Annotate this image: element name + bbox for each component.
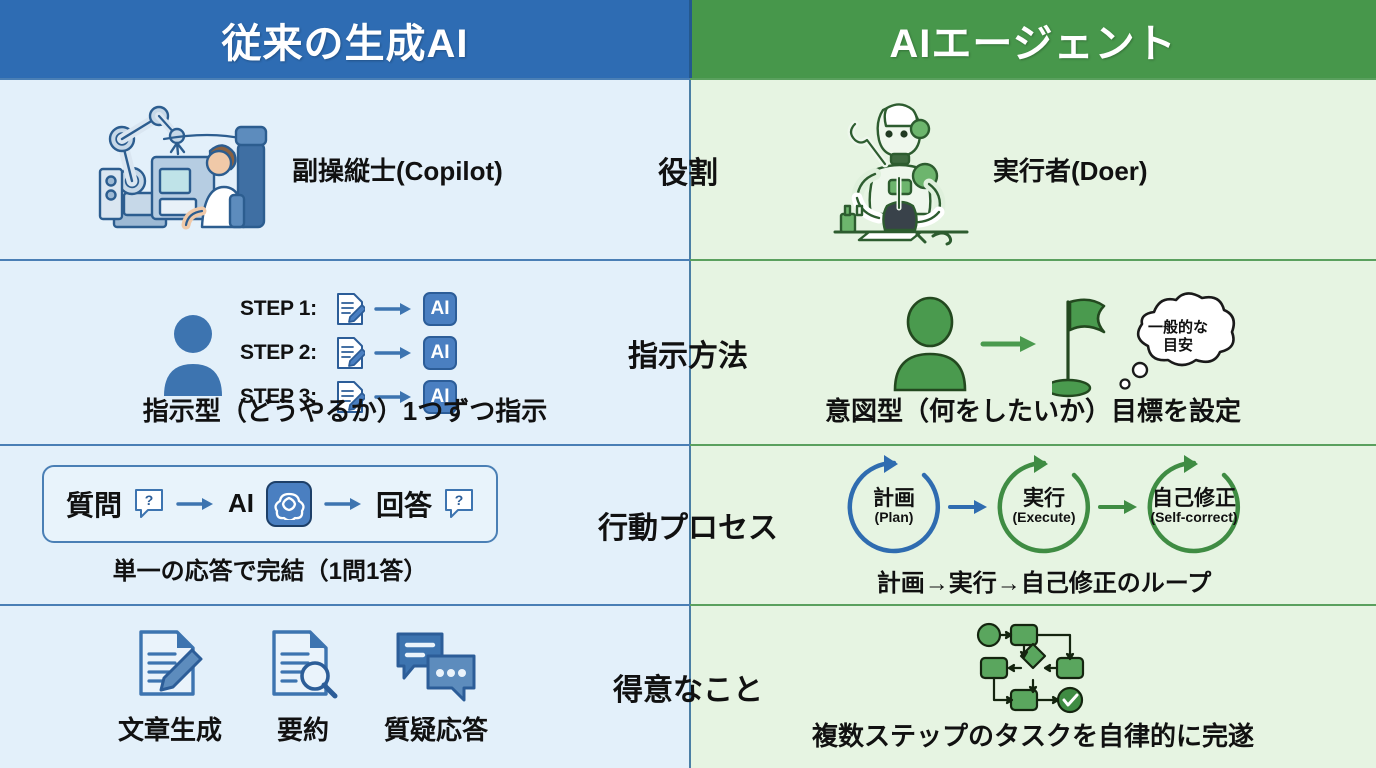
- qa-question-label: 質問: [66, 484, 122, 524]
- row-role-left-cell: 副操縦士(Copilot): [0, 80, 690, 259]
- step-label: STEP 2:: [240, 341, 326, 365]
- flowchart-diagram-icon: [971, 622, 1095, 714]
- arrow-right-icon: [374, 345, 414, 361]
- chat-bubbles-icon: [394, 628, 478, 704]
- thought-bubble-line1: 一般的な: [1148, 319, 1208, 336]
- role-left-value: 副操縦士(Copilot): [292, 151, 503, 188]
- loop-label-en: (Execute): [1012, 510, 1075, 525]
- row-instruction-right-cell: 一般的な 目安 意図型（何をしたいか）目標を設定: [690, 261, 1376, 444]
- loop-label-ja: 実行: [1023, 488, 1065, 510]
- step-label: STEP 1:: [240, 297, 326, 321]
- loop-item-execute: 実行 (Execute): [990, 453, 1098, 561]
- loop-item-plan: 計画 (Plan): [840, 453, 948, 561]
- arrow-right-icon: [948, 498, 990, 516]
- person-avatar-icon: [890, 296, 970, 392]
- right-column-header: AIエージェント: [690, 0, 1376, 80]
- humanoid-robot-working-illustration: [825, 94, 975, 246]
- left-column-title: 従来の生成AI: [222, 11, 469, 69]
- skill-item-qa: 質疑応答: [384, 628, 488, 747]
- arrow-right-icon: [374, 301, 414, 317]
- row-role-right-cell: 実行者(Doer): [690, 80, 1376, 259]
- skill-label: 要約: [277, 710, 329, 747]
- right-column-title: AIエージェント: [889, 11, 1176, 69]
- skill-item-summary: 要約: [268, 628, 338, 747]
- loop-label-ja: 自己修正: [1152, 488, 1236, 510]
- loop-label-en: (Self-correct): [1150, 510, 1237, 525]
- thought-bubble-line2: 目安: [1163, 337, 1193, 354]
- row-instruction-left-cell: STEP 1: AI STEP 2:: [0, 261, 690, 444]
- question-bubble-icon: ?: [444, 488, 474, 520]
- loop-label-ja: 計画: [873, 488, 915, 510]
- question-bubble-icon: ?: [134, 488, 164, 520]
- skill-list: 文章生成 要約 質疑応答: [0, 628, 488, 747]
- arrow-right-icon: [1098, 498, 1140, 516]
- arrow-right-icon: [324, 496, 364, 512]
- step-item: STEP 1: AI: [240, 292, 457, 326]
- row-process-left-cell: 質問 ? AI: [0, 446, 690, 604]
- skill-item-text-generation: 文章生成: [118, 628, 222, 747]
- pilot-cockpit-robotic-arm-illustration: [92, 95, 272, 245]
- arrow-right-icon: [980, 333, 1042, 355]
- row-strengths-left-cell: 文章生成 要約 質疑応答: [0, 606, 690, 768]
- skill-label: 文章生成: [118, 710, 222, 747]
- person-avatar-icon: [160, 310, 226, 396]
- comparison-infographic: 従来の生成AI AIエージェント: [0, 0, 1376, 768]
- row-strengths-right-cell: 複数ステップのタスクを自律的に完遂: [690, 606, 1376, 768]
- qa-ai-label: AI: [228, 488, 254, 519]
- svg-text:?: ?: [455, 492, 464, 508]
- qa-answer-label: 回答: [376, 484, 432, 524]
- openai-logo-icon: [266, 481, 312, 527]
- role-right-value: 実行者(Doer): [993, 151, 1148, 188]
- ai-badge: AI: [423, 292, 457, 326]
- arrow-right-icon: [176, 496, 216, 512]
- skill-label: 質疑応答: [384, 710, 488, 747]
- document-pencil-icon: [335, 292, 365, 326]
- step-item: STEP 2: AI: [240, 336, 457, 370]
- loop-item-self-correct: 自己修正 (Self-correct): [1140, 453, 1248, 561]
- strengths-right-caption: 複数ステップのタスクを自律的に完遂: [812, 716, 1254, 753]
- process-left-caption: 単一の応答で完結（1問1答）: [113, 551, 428, 586]
- loop-list: 計画 (Plan) 実行 (Execute): [840, 453, 1248, 561]
- instruction-right-caption: 意図型（何をしたいか）目標を設定: [690, 391, 1376, 428]
- ai-badge: AI: [423, 336, 457, 370]
- qa-flow-box: 質問 ? AI: [42, 465, 498, 543]
- document-pencil-icon: [335, 336, 365, 370]
- left-column-header: 従来の生成AI: [0, 0, 690, 80]
- row-process-right-cell: 計画 (Plan) 実行 (Execute): [690, 446, 1376, 604]
- process-right-caption: 計画→実行→自己修正のループ: [877, 563, 1212, 598]
- document-pencil-icon: [135, 628, 205, 704]
- header-vertical-divider: [689, 0, 692, 80]
- document-magnifier-icon: [268, 628, 338, 704]
- svg-text:?: ?: [145, 492, 154, 508]
- loop-label-en: (Plan): [875, 510, 914, 525]
- green-flag-goal-icon: [1052, 288, 1126, 400]
- instruction-left-caption: 指示型（どうやるか）1つずつ指示: [0, 391, 690, 428]
